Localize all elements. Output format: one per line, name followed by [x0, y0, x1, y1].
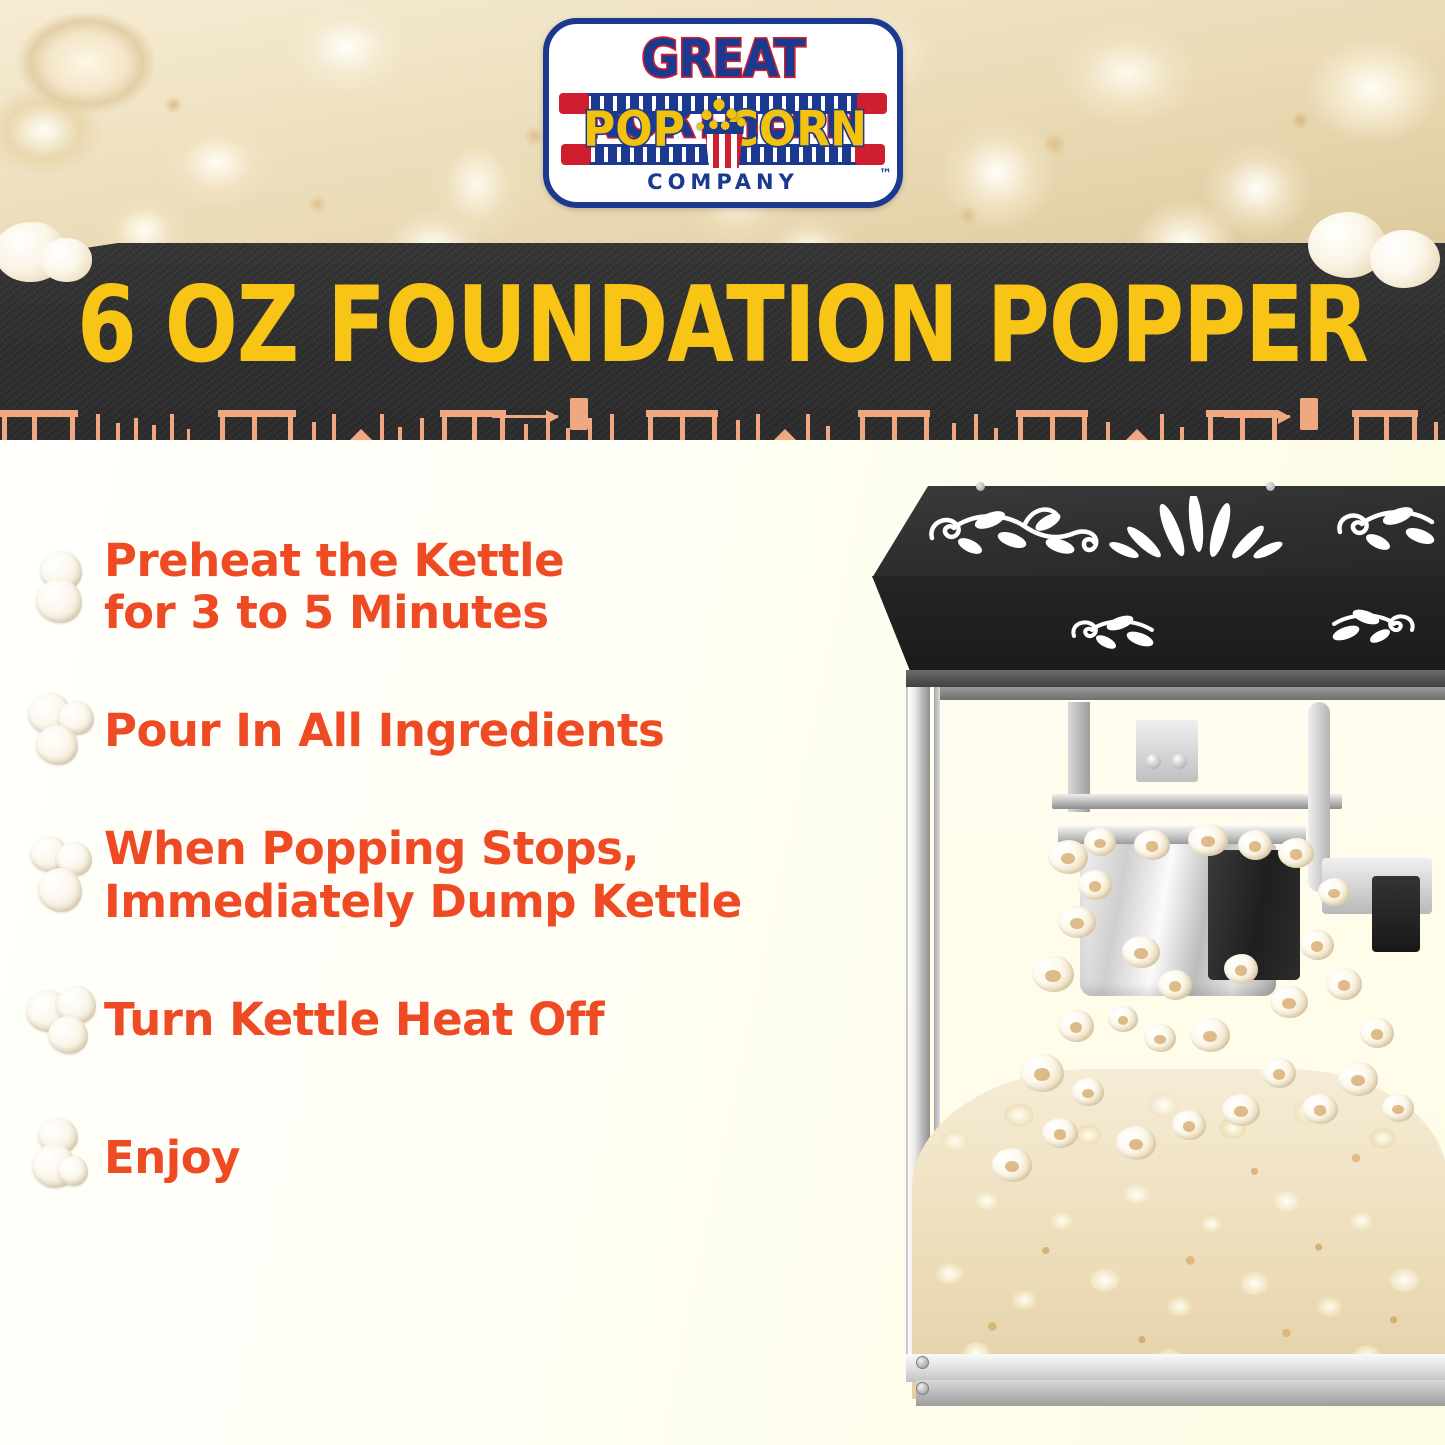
hood-bolt-left: [976, 482, 985, 491]
popcorn-kernel-icon: [24, 974, 98, 1066]
machine-hood-face: [872, 576, 1445, 676]
step-line: When Popping Stops,: [104, 823, 742, 875]
arrow-marker-block-1: [570, 398, 588, 430]
trademark-icon: ™: [879, 167, 892, 182]
kettle-switch-box: [1136, 720, 1198, 782]
list-item: Turn Kettle Heat Off: [24, 974, 924, 1066]
bag-kernels: [693, 92, 755, 134]
step-line: Pour In All Ingredients: [104, 705, 664, 757]
machine-side-switch[interactable]: [1372, 876, 1420, 952]
popcorn-kernel-icon: [24, 685, 98, 777]
kettle-hanger-bar: [1052, 794, 1342, 809]
product-infographic: GREAT NORTHERN POP CORN COMPANY ™ 6 OZ F…: [0, 0, 1445, 1445]
machine-hood-top: [872, 486, 1445, 578]
main-content: Preheat the Kettle for 3 to 5 Minutes Po…: [0, 440, 1445, 1445]
step-line: Preheat the Kettle: [104, 535, 564, 587]
list-item: Enjoy: [24, 1112, 924, 1204]
list-item: Pour In All Ingredients: [24, 685, 924, 777]
machine-hood-lip: [906, 670, 1445, 687]
kettle-knob-left[interactable]: [1146, 754, 1161, 769]
page-title: 6 OZ FOUNDATION POPPER: [0, 273, 1445, 378]
title-banner: 6 OZ FOUNDATION POPPER: [0, 243, 1445, 440]
popcorn-machine-photo: [872, 458, 1445, 1423]
arrow-marker-block-2: [1300, 398, 1318, 430]
popcorn-kernel-icon: [24, 1112, 98, 1204]
step-label: When Popping Stops, Immediately Dump Ket…: [104, 823, 742, 927]
ruler-decoration: [0, 390, 1445, 440]
base-screw-top: [916, 1356, 929, 1369]
machine-case-ceiling: [940, 687, 1445, 700]
arrow-right-icon-2: [1224, 415, 1290, 418]
hood-bolt-right: [1266, 482, 1275, 491]
list-item: When Popping Stops, Immediately Dump Ket…: [24, 823, 924, 927]
logo-company-word: COMPANY: [543, 170, 903, 194]
step-label: Pour In All Ingredients: [104, 705, 664, 757]
logo-inner: GREAT NORTHERN POP CORN COMPANY ™: [543, 18, 903, 208]
step-line: Immediately Dump Kettle: [104, 876, 742, 928]
step-label: Preheat the Kettle for 3 to 5 Minutes: [104, 535, 564, 639]
machine-base-frame: [906, 1354, 1445, 1382]
popcorn-kernel-icon: [24, 830, 98, 922]
brand-logo: GREAT NORTHERN POP CORN COMPANY ™: [543, 18, 903, 208]
popcorn-kernel-icon: [24, 541, 98, 633]
machine-base-plinth: [916, 1380, 1445, 1406]
step-line: Turn Kettle Heat Off: [104, 994, 604, 1046]
popcorn-overlap-left-2: [40, 238, 92, 282]
list-item: Preheat the Kettle for 3 to 5 Minutes: [24, 535, 924, 639]
arrow-right-icon-1: [492, 415, 558, 418]
popcorn-overlap-right-2: [1370, 230, 1440, 288]
step-label: Enjoy: [104, 1132, 240, 1184]
kettle-knob-right[interactable]: [1172, 754, 1187, 769]
step-line: Enjoy: [104, 1132, 240, 1184]
popcorn-bag-icon: [691, 92, 757, 168]
instruction-list: Preheat the Kettle for 3 to 5 Minutes Po…: [24, 535, 924, 1250]
step-label: Turn Kettle Heat Off: [104, 994, 604, 1046]
logo-word-pop: POP: [583, 101, 685, 157]
base-screw-bottom: [916, 1382, 929, 1395]
step-line: for 3 to 5 Minutes: [104, 587, 564, 639]
